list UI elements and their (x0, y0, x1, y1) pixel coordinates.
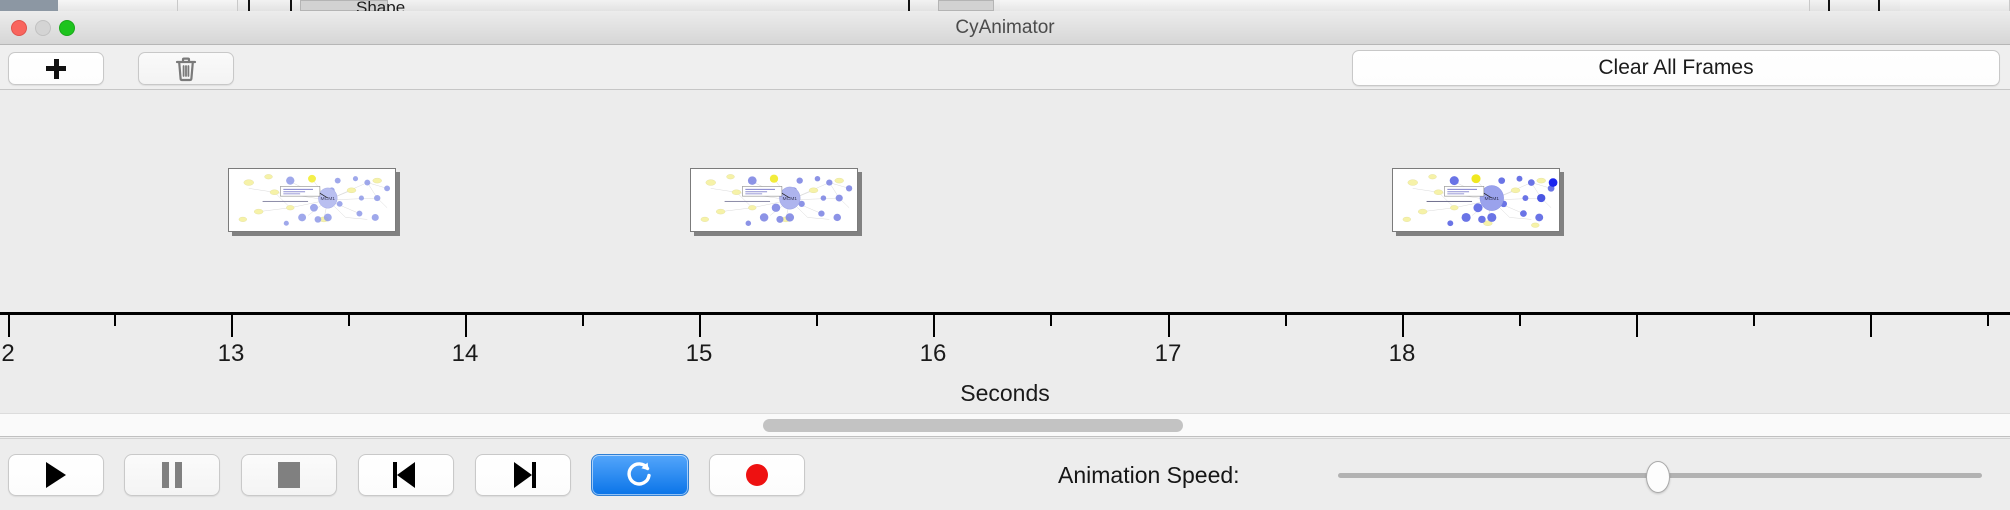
axis-tick-major (231, 315, 233, 337)
axis-tick-label: 14 (452, 340, 479, 368)
axis-tick-minor (1753, 315, 1755, 326)
keyframe-thumbnail[interactable]: MCM1 (1392, 168, 1560, 232)
transport-bar: Animation Speed: (0, 438, 2010, 510)
trash-icon (174, 56, 198, 82)
timeline-panel[interactable]: MCM1 (0, 90, 2010, 413)
axis-tick-minor (1519, 315, 1521, 326)
play-icon (46, 462, 66, 488)
animation-speed-slider[interactable] (1338, 473, 1982, 478)
network-thumbnail-graphic: MCM1 (1393, 169, 1559, 231)
delete-frame-button[interactable] (138, 52, 234, 85)
stop-button[interactable] (241, 454, 337, 496)
timeline-scrollbar-thumb[interactable] (763, 419, 1183, 432)
axis-tick-major (1402, 315, 1404, 337)
titlebar: CyAnimator (0, 11, 2010, 45)
network-thumbnail-graphic: MCM1 (691, 169, 857, 231)
record-button[interactable] (709, 454, 805, 496)
axis-tick-minor (582, 315, 584, 326)
axis-tick-major (1636, 315, 1638, 337)
add-frame-button[interactable] (8, 52, 104, 85)
window-title: CyAnimator (0, 11, 2010, 45)
plus-icon (46, 59, 66, 79)
pause-button[interactable] (124, 454, 220, 496)
frame-toolbar: Clear All Frames (0, 45, 2010, 90)
axis-tick-label: 18 (1389, 340, 1416, 368)
axis-tick-minor (1050, 315, 1052, 326)
stop-icon (278, 462, 300, 488)
axis-tick-major (1870, 315, 1872, 337)
skip-forward-button[interactable] (475, 454, 571, 496)
hub-node-label: MCM1 (321, 196, 336, 202)
axis-tick-major (933, 315, 935, 337)
clear-all-frames-label: Clear All Frames (1598, 56, 1753, 80)
clear-all-frames-button[interactable]: Clear All Frames (1352, 50, 2000, 86)
pause-icon (162, 462, 182, 488)
skip-back-icon (393, 462, 419, 488)
axis-tick-label: 17 (1155, 340, 1182, 368)
background-window-label: Shape (356, 0, 405, 11)
axis-tick-label: 2 (1, 340, 14, 368)
axis-tick-minor (114, 315, 116, 326)
axis-tick-major (699, 315, 701, 337)
hub-node-label: MCM1 (1485, 196, 1500, 202)
hub-node-label: MCM1 (783, 196, 798, 202)
animation-speed-label: Animation Speed: (1058, 454, 1240, 496)
cyanimator-window: Shape CyAnimator Clear All (0, 0, 2010, 510)
axis-tick-minor (816, 315, 818, 326)
skip-forward-icon (510, 462, 536, 488)
axis-tick-label: 15 (686, 340, 713, 368)
background-window-strip: Shape (0, 0, 2010, 11)
play-button[interactable] (8, 454, 104, 496)
axis-tick-major (8, 315, 10, 337)
loop-icon (625, 460, 655, 490)
record-icon (746, 464, 768, 486)
keyframe-thumbnail[interactable]: MCM1 (690, 168, 858, 232)
animation-speed-slider-thumb[interactable] (1646, 461, 1670, 493)
axis-tick-minor (1285, 315, 1287, 326)
keyframe-thumbnail[interactable]: MCM1 (228, 168, 396, 232)
axis-tick-label: 16 (920, 340, 947, 368)
timeline-axis (0, 312, 2010, 315)
background-window-titlebar-chip (0, 0, 58, 11)
loop-button[interactable] (591, 454, 689, 496)
timeline-scrollbar[interactable] (0, 413, 2010, 437)
axis-tick-minor (348, 315, 350, 326)
network-thumbnail-graphic: MCM1 (229, 169, 395, 231)
axis-tick-minor (1987, 315, 1989, 326)
axis-tick-major (465, 315, 467, 337)
axis-title: Seconds (0, 380, 2010, 407)
skip-back-button[interactable] (358, 454, 454, 496)
axis-tick-label: 13 (218, 340, 245, 368)
axis-tick-major (1168, 315, 1170, 337)
